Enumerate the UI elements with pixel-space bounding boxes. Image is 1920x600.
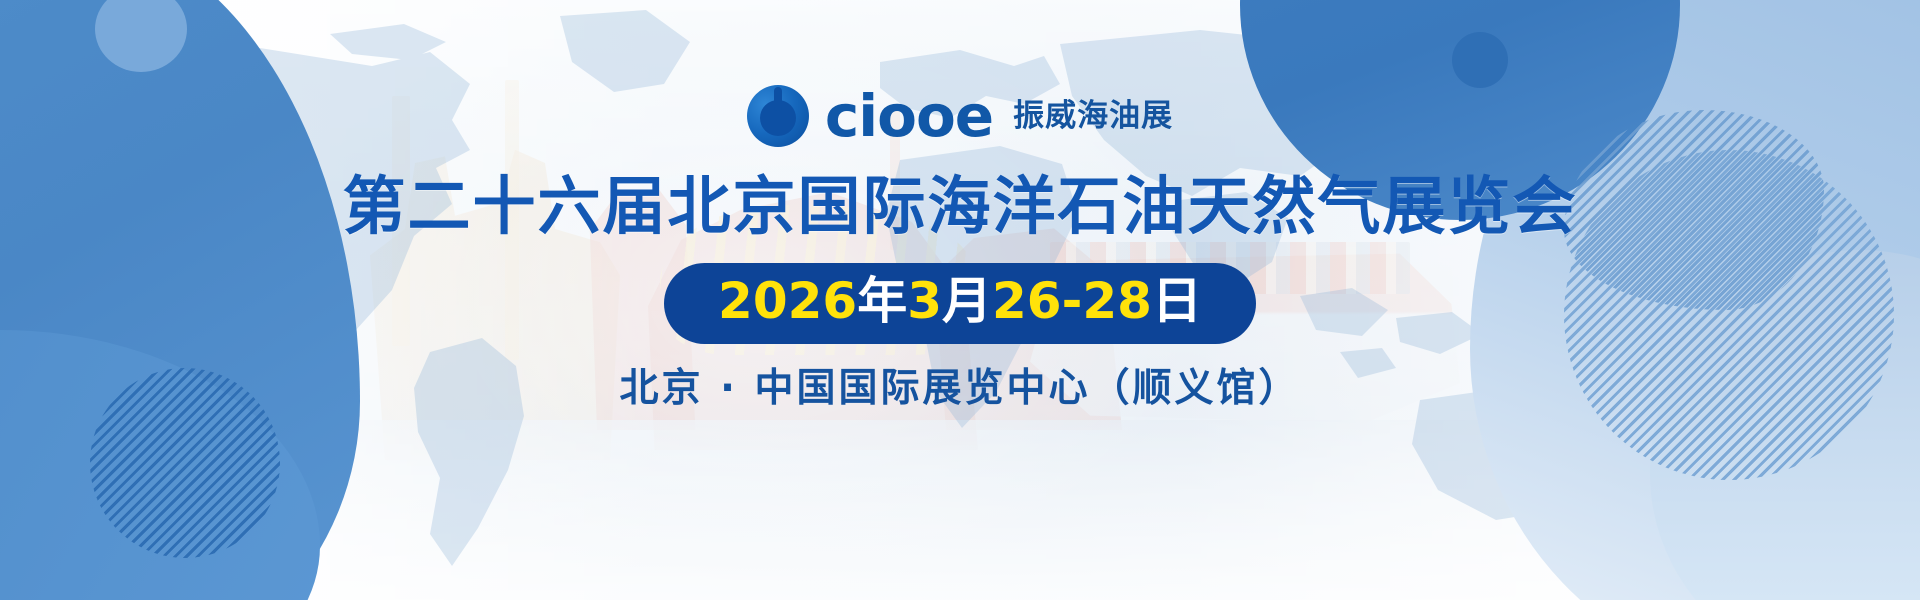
- venue-text: 北京 · 中国国际展览中心（顺义馆）: [620, 368, 1301, 411]
- date-month: 3: [907, 272, 942, 331]
- logo-lockup: ciooe 振威海油展: [747, 84, 1173, 148]
- date-year: 2026: [718, 272, 857, 331]
- date-month-unit: 月: [942, 272, 992, 331]
- banner-content: ciooe 振威海油展 第二十六届北京国际海洋石油天然气展览会 2026 年 3…: [0, 0, 1920, 600]
- event-date-badge: 2026 年 3 月 26-28 日: [664, 263, 1256, 344]
- logo-chinese-name: 振威海油展: [1013, 101, 1173, 132]
- date-days: 26-28: [992, 272, 1152, 331]
- event-banner: ciooe 振威海油展 第二十六届北京国际海洋石油天然气展览会 2026 年 3…: [0, 0, 1920, 600]
- date-year-unit: 年: [857, 272, 907, 331]
- ciooe-circle-mark-icon: [747, 85, 809, 147]
- page-title: 第二十六届北京国际海洋石油天然气展览会: [343, 174, 1578, 241]
- logo-wordmark: ciooe: [825, 87, 993, 145]
- logo-stem: [774, 87, 782, 111]
- date-day-unit: 日: [1152, 272, 1202, 331]
